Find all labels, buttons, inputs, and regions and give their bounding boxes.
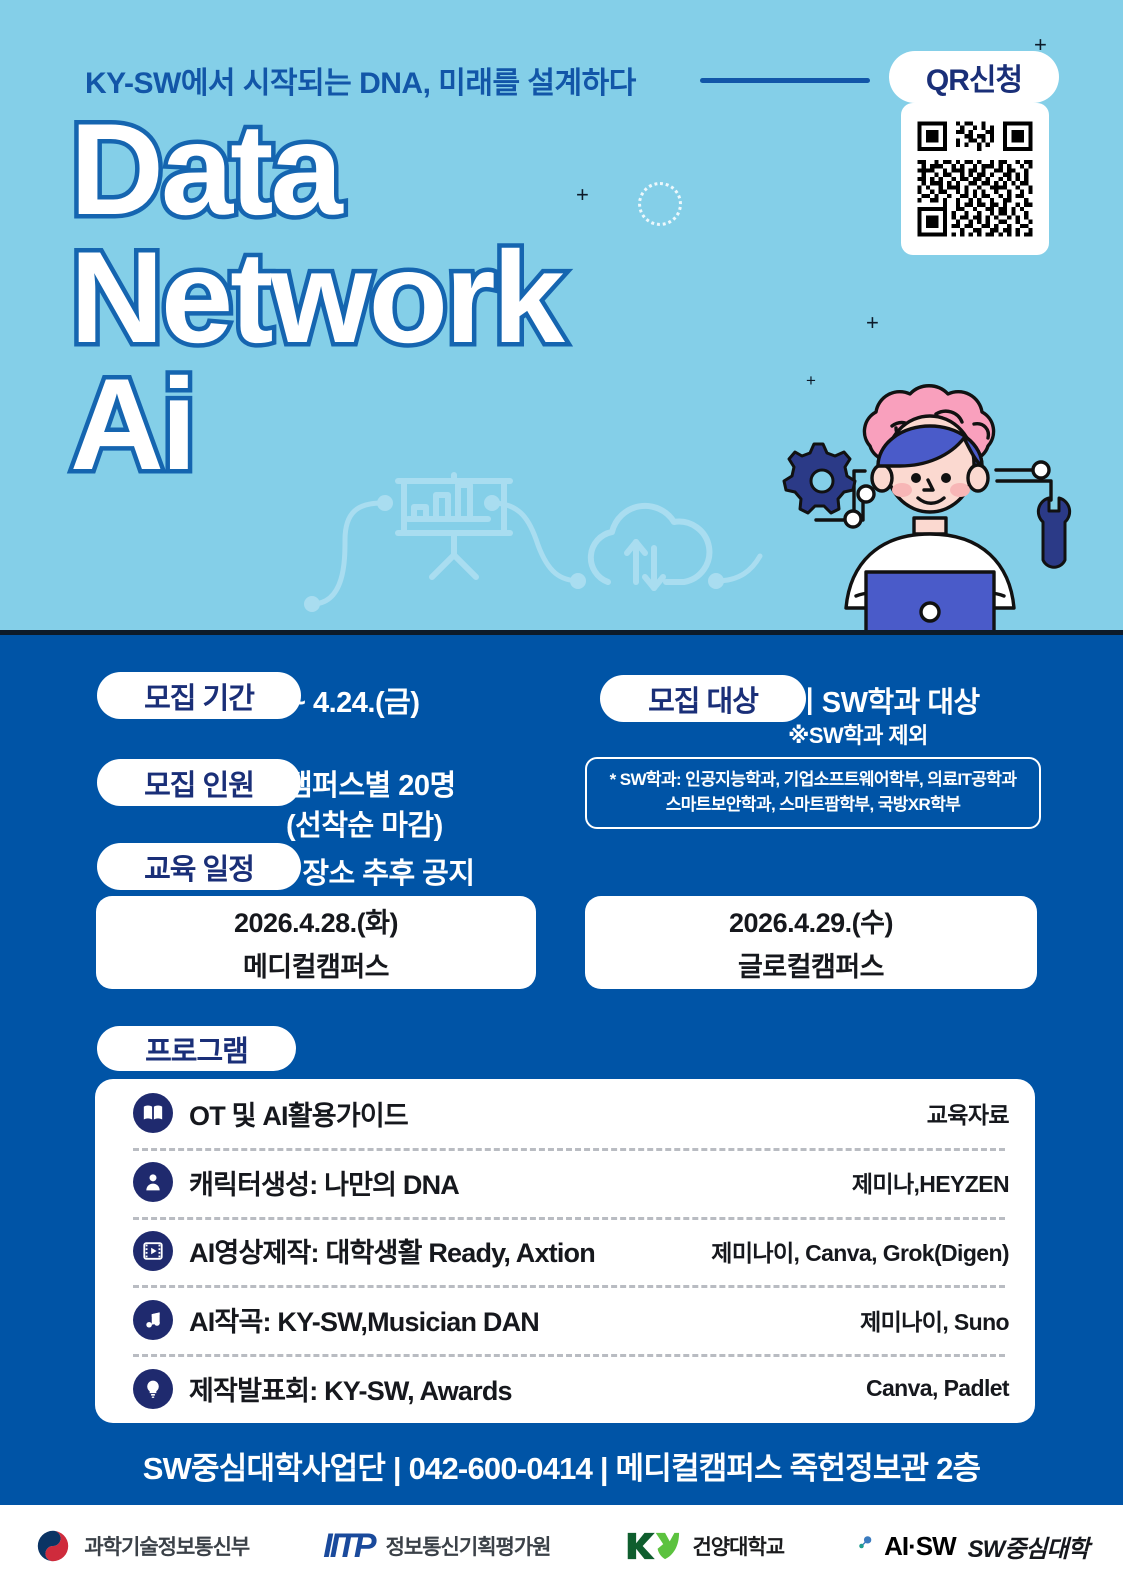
program-row: OT 및 AI활용가이드 교육자료 (95, 1079, 1035, 1148)
ky-logo-icon (624, 1529, 680, 1563)
hero-section: KY-SW에서 시작되는 DNA, 미래를 설계하다 Data Data Net… (0, 0, 1123, 634)
sw-note-line-1: * SW학과: 인공지능학과, 기업소프트웨어학부, 의료IT공학과 (610, 768, 1017, 793)
footer-logos: 과학기술정보통신부 IITP 정보통신기획평가원 건양대학교 AI·SW SW중… (0, 1505, 1123, 1587)
plus-mark-icon: + (576, 184, 589, 206)
program-row: 캐릭터생성: 나만의 DNA 제미나,HEYZEN (95, 1148, 1035, 1217)
value-schedule-note: * 장소 추후 공지 (284, 850, 475, 892)
student-character-illustration (760, 368, 1090, 634)
program-card: OT 및 AI활용가이드 교육자료 캐릭터생성: 나만의 DNA 제미나,HEY… (95, 1079, 1035, 1423)
logo-msit: 과학기술정보통신부 (34, 1527, 249, 1565)
taegeuk-icon (34, 1527, 72, 1565)
label-recruit-period: 모집 기간 (97, 672, 301, 719)
poster-title: Data Data Network Network Ai Ai (70, 110, 562, 493)
title-line-2: Network Network (70, 238, 562, 358)
label-education-schedule: 교육 일정 (97, 843, 301, 890)
value-recruit-target-sub: ※SW학과 제외 (788, 718, 928, 750)
iitp-wordmark: IITP (323, 1527, 373, 1566)
title-line-3: Ai Ai (70, 365, 562, 485)
program-tools: 제미나,HEYZEN (852, 1165, 1009, 1199)
aisw-dot-icon (858, 1535, 872, 1557)
program-title: AI영상제작: 대학생활 Ready, Axtion (189, 1231, 595, 1270)
sw-department-note: * SW학과: 인공지능학과, 기업소프트웨어학부, 의료IT공학과 스마트보안… (585, 757, 1041, 829)
dotted-circle-icon (638, 182, 682, 226)
value-recruit-count-line2: (선착순 마감) (286, 802, 443, 844)
logo-label: 건양대학교 (692, 1531, 784, 1561)
program-title: 캐릭터생성: 나만의 DNA (189, 1163, 459, 1202)
date-value: 2026.4.28.(화) (234, 901, 398, 940)
person-icon (133, 1162, 173, 1202)
qr-apply-badge[interactable]: QR신청 (889, 51, 1059, 103)
campus-value: 글로컬캠퍼스 (738, 945, 884, 984)
label-recruit-count: 모집 인원 (97, 759, 301, 806)
date-card-medical: 2026.4.28.(화) 메디컬캠퍼스 (96, 896, 536, 989)
program-tools: 제미나이, Canva, Grok(Digen) (711, 1234, 1009, 1268)
logo-aisw: AI·SW SW중심대학 (858, 1529, 1089, 1564)
program-title: OT 및 AI활용가이드 (189, 1094, 408, 1133)
date-value: 2026.4.29.(수) (729, 901, 893, 940)
value-recruit-count-line1: 캠퍼스별 20명 (286, 762, 456, 804)
qr-code-icon[interactable] (901, 103, 1049, 255)
logo-label: 과학기술정보통신부 (84, 1531, 249, 1561)
music-note-icon (133, 1300, 173, 1340)
label-recruit-target: 모집 대상 (600, 675, 806, 722)
program-title: 제작발표회: KY-SW, Awards (189, 1369, 512, 1408)
lightbulb-icon (133, 1369, 173, 1409)
program-title: AI작곡: KY-SW,Musician DAN (189, 1300, 539, 1339)
logo-iitp: IITP 정보통신기획평가원 (323, 1527, 550, 1566)
logo-konyang: 건양대학교 (624, 1529, 784, 1563)
film-icon (133, 1231, 173, 1271)
sw-note-line-2: 스마트보안학과, 스마트팜학부, 국방XR학부 (666, 793, 961, 818)
title-line-1: Data Data (70, 110, 562, 230)
logo-label: SW중심대학 (968, 1529, 1089, 1564)
value-recruit-target: 비 SW학과 대상 (788, 679, 980, 721)
program-tools: 교육자료 (927, 1096, 1009, 1130)
program-row: 제작발표회: KY-SW, Awards Canva, Padlet (95, 1354, 1035, 1423)
logo-label: 정보통신기획평가원 (386, 1531, 551, 1561)
value-recruit-period: ~ 4.24.(금) (289, 679, 420, 721)
kicker-rule (700, 78, 870, 83)
label-program: 프로그램 (97, 1026, 296, 1071)
plus-mark-icon: + (866, 312, 879, 334)
poster-root: KY-SW에서 시작되는 DNA, 미래를 설계하다 Data Data Net… (0, 0, 1123, 1587)
program-row: AI영상제작: 대학생활 Ready, Axtion 제미나이, Canva, … (95, 1217, 1035, 1286)
program-row: AI작곡: KY-SW,Musician DAN 제미나이, Suno (95, 1285, 1035, 1354)
qr-apply-label: QR신청 (926, 55, 1022, 99)
book-icon (133, 1093, 173, 1133)
aisw-wordmark: AI·SW (884, 1531, 956, 1562)
date-card-glocal: 2026.4.29.(수) 글로컬캠퍼스 (585, 896, 1037, 989)
program-tools: Canva, Padlet (866, 1375, 1009, 1402)
contact-strip: SW중심대학사업단 | 042-600-0414 | 메디컬캠퍼스 죽헌정보관 … (0, 1443, 1123, 1488)
campus-value: 메디컬캠퍼스 (243, 945, 389, 984)
program-tools: 제미나이, Suno (860, 1303, 1009, 1337)
